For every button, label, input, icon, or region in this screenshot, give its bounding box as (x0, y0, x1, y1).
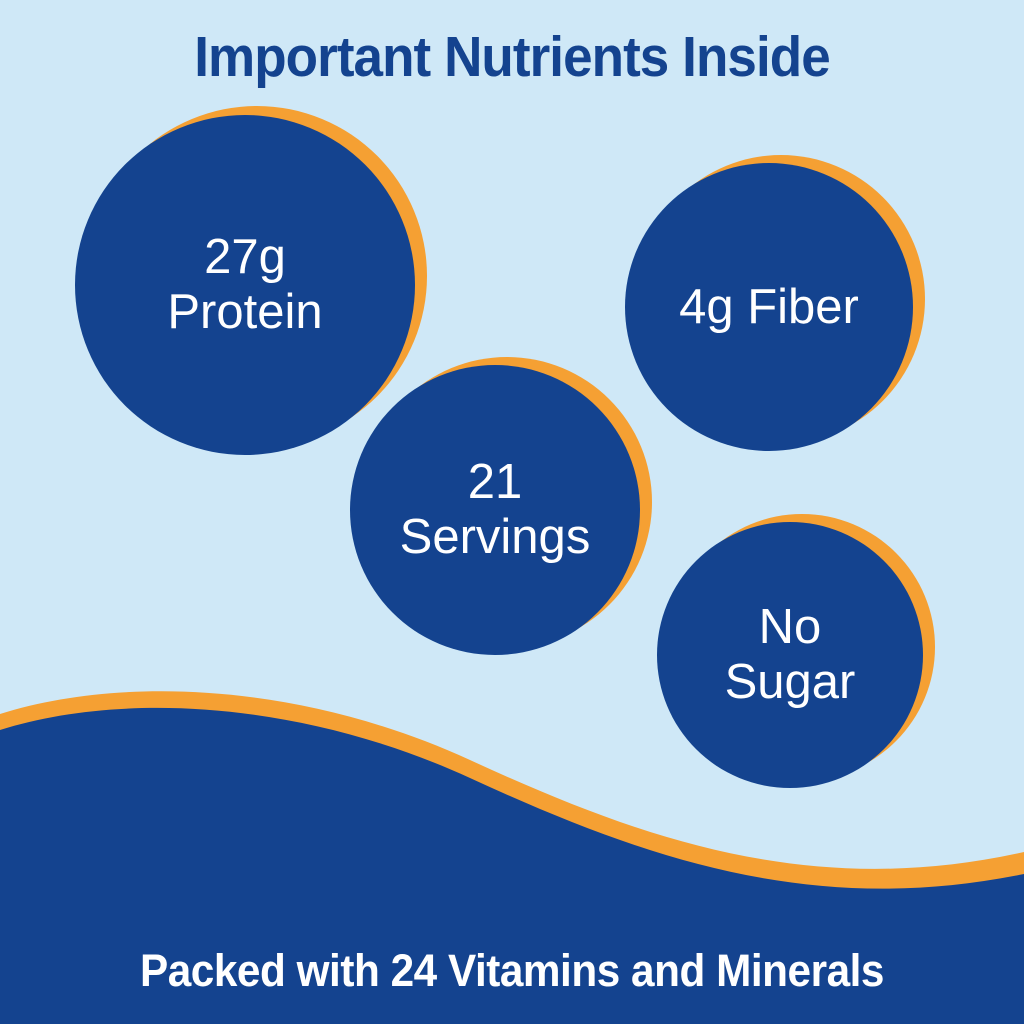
bubble-disc-servings: 21 Servings (350, 365, 640, 655)
bubble-disc-protein: 27g Protein (75, 115, 415, 455)
bubble-disc-sugar: No Sugar (657, 522, 923, 788)
bubble-label-protein: Protein (167, 285, 322, 340)
bubble-value-protein: 27g (167, 230, 322, 285)
page-title: Important Nutrients Inside (36, 26, 988, 88)
bubble-disc-fiber: 4g Fiber (625, 163, 913, 451)
bubble-value-sugar: No (725, 600, 856, 655)
bubble-label-servings: Servings (400, 510, 591, 565)
bubble-label-sugar: Sugar (725, 655, 856, 710)
bubble-value-fiber: 4g Fiber (679, 280, 859, 335)
footer-tagline: Packed with 24 Vitamins and Minerals (31, 946, 994, 996)
bubble-value-servings: 21 (400, 455, 591, 510)
nutrition-infographic: Important Nutrients Inside 27g Protein 4… (0, 0, 1024, 1024)
